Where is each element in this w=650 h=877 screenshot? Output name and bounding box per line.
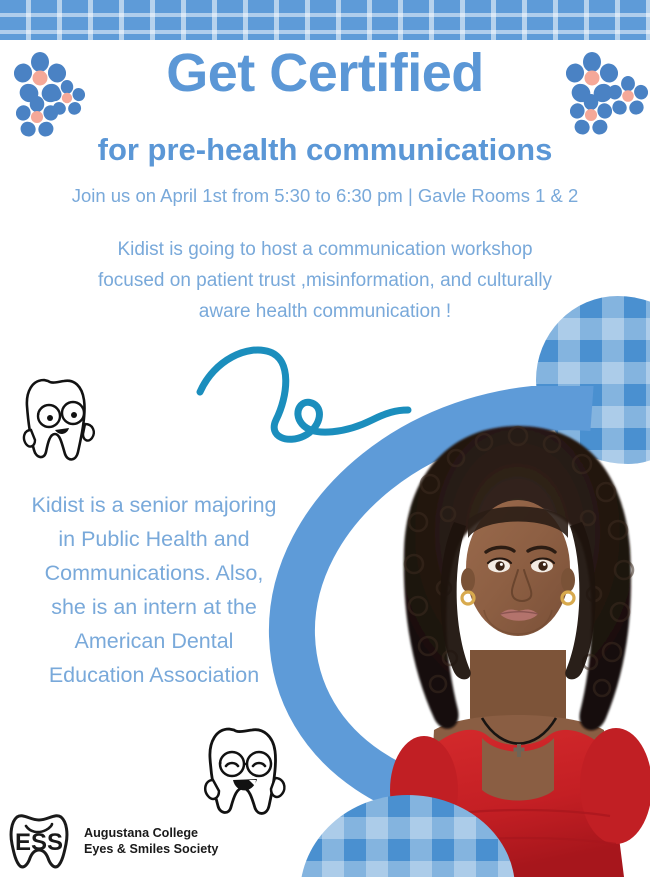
presenter-bio: Kidist is a senior majoring in Public He… — [0, 489, 310, 693]
ess-tooth-logo-icon: ESS — [8, 812, 70, 870]
workshop-description-line: Kidist is going to host a communication … — [28, 235, 622, 266]
top-plaid-border — [0, 0, 650, 40]
organization-name: Augustana College Eyes & Smiles Society — [84, 825, 218, 857]
presenter-bio-line: American Dental — [0, 625, 310, 659]
presenter-bio-line: Communications. Also, — [0, 557, 310, 591]
workshop-description-line: aware health communication ! — [28, 297, 622, 328]
workshop-description: Kidist is going to host a communication … — [28, 235, 622, 327]
organization-name-line-1: Augustana College — [84, 825, 218, 841]
tooth-mascot-icon-upper — [22, 374, 100, 466]
presenter-bio-line: she is an intern at the — [0, 591, 310, 625]
workshop-description-line: focused on patient trust ,misinformation… — [28, 266, 622, 297]
organization-logo: ESS Augustana College Eyes & Smiles Soci… — [8, 812, 218, 870]
tooth-mascot-icon-lower — [203, 722, 289, 820]
presenter-bio-line: Education Association — [0, 659, 310, 693]
presenter-bio-line: Kidist is a senior majoring — [0, 489, 310, 523]
event-details-line: Join us on April 1st from 5:30 to 6:30 p… — [0, 185, 650, 207]
page-subtitle: for pre-health communications — [0, 134, 650, 167]
page-title: Get Certified — [0, 46, 650, 100]
ess-monogram-text: ESS — [15, 829, 63, 856]
organization-name-line-2: Eyes & Smiles Society — [84, 841, 218, 857]
poster-canvas: Get Certified for pre-health communicati… — [0, 0, 650, 877]
presenter-bio-line: in Public Health and — [0, 523, 310, 557]
